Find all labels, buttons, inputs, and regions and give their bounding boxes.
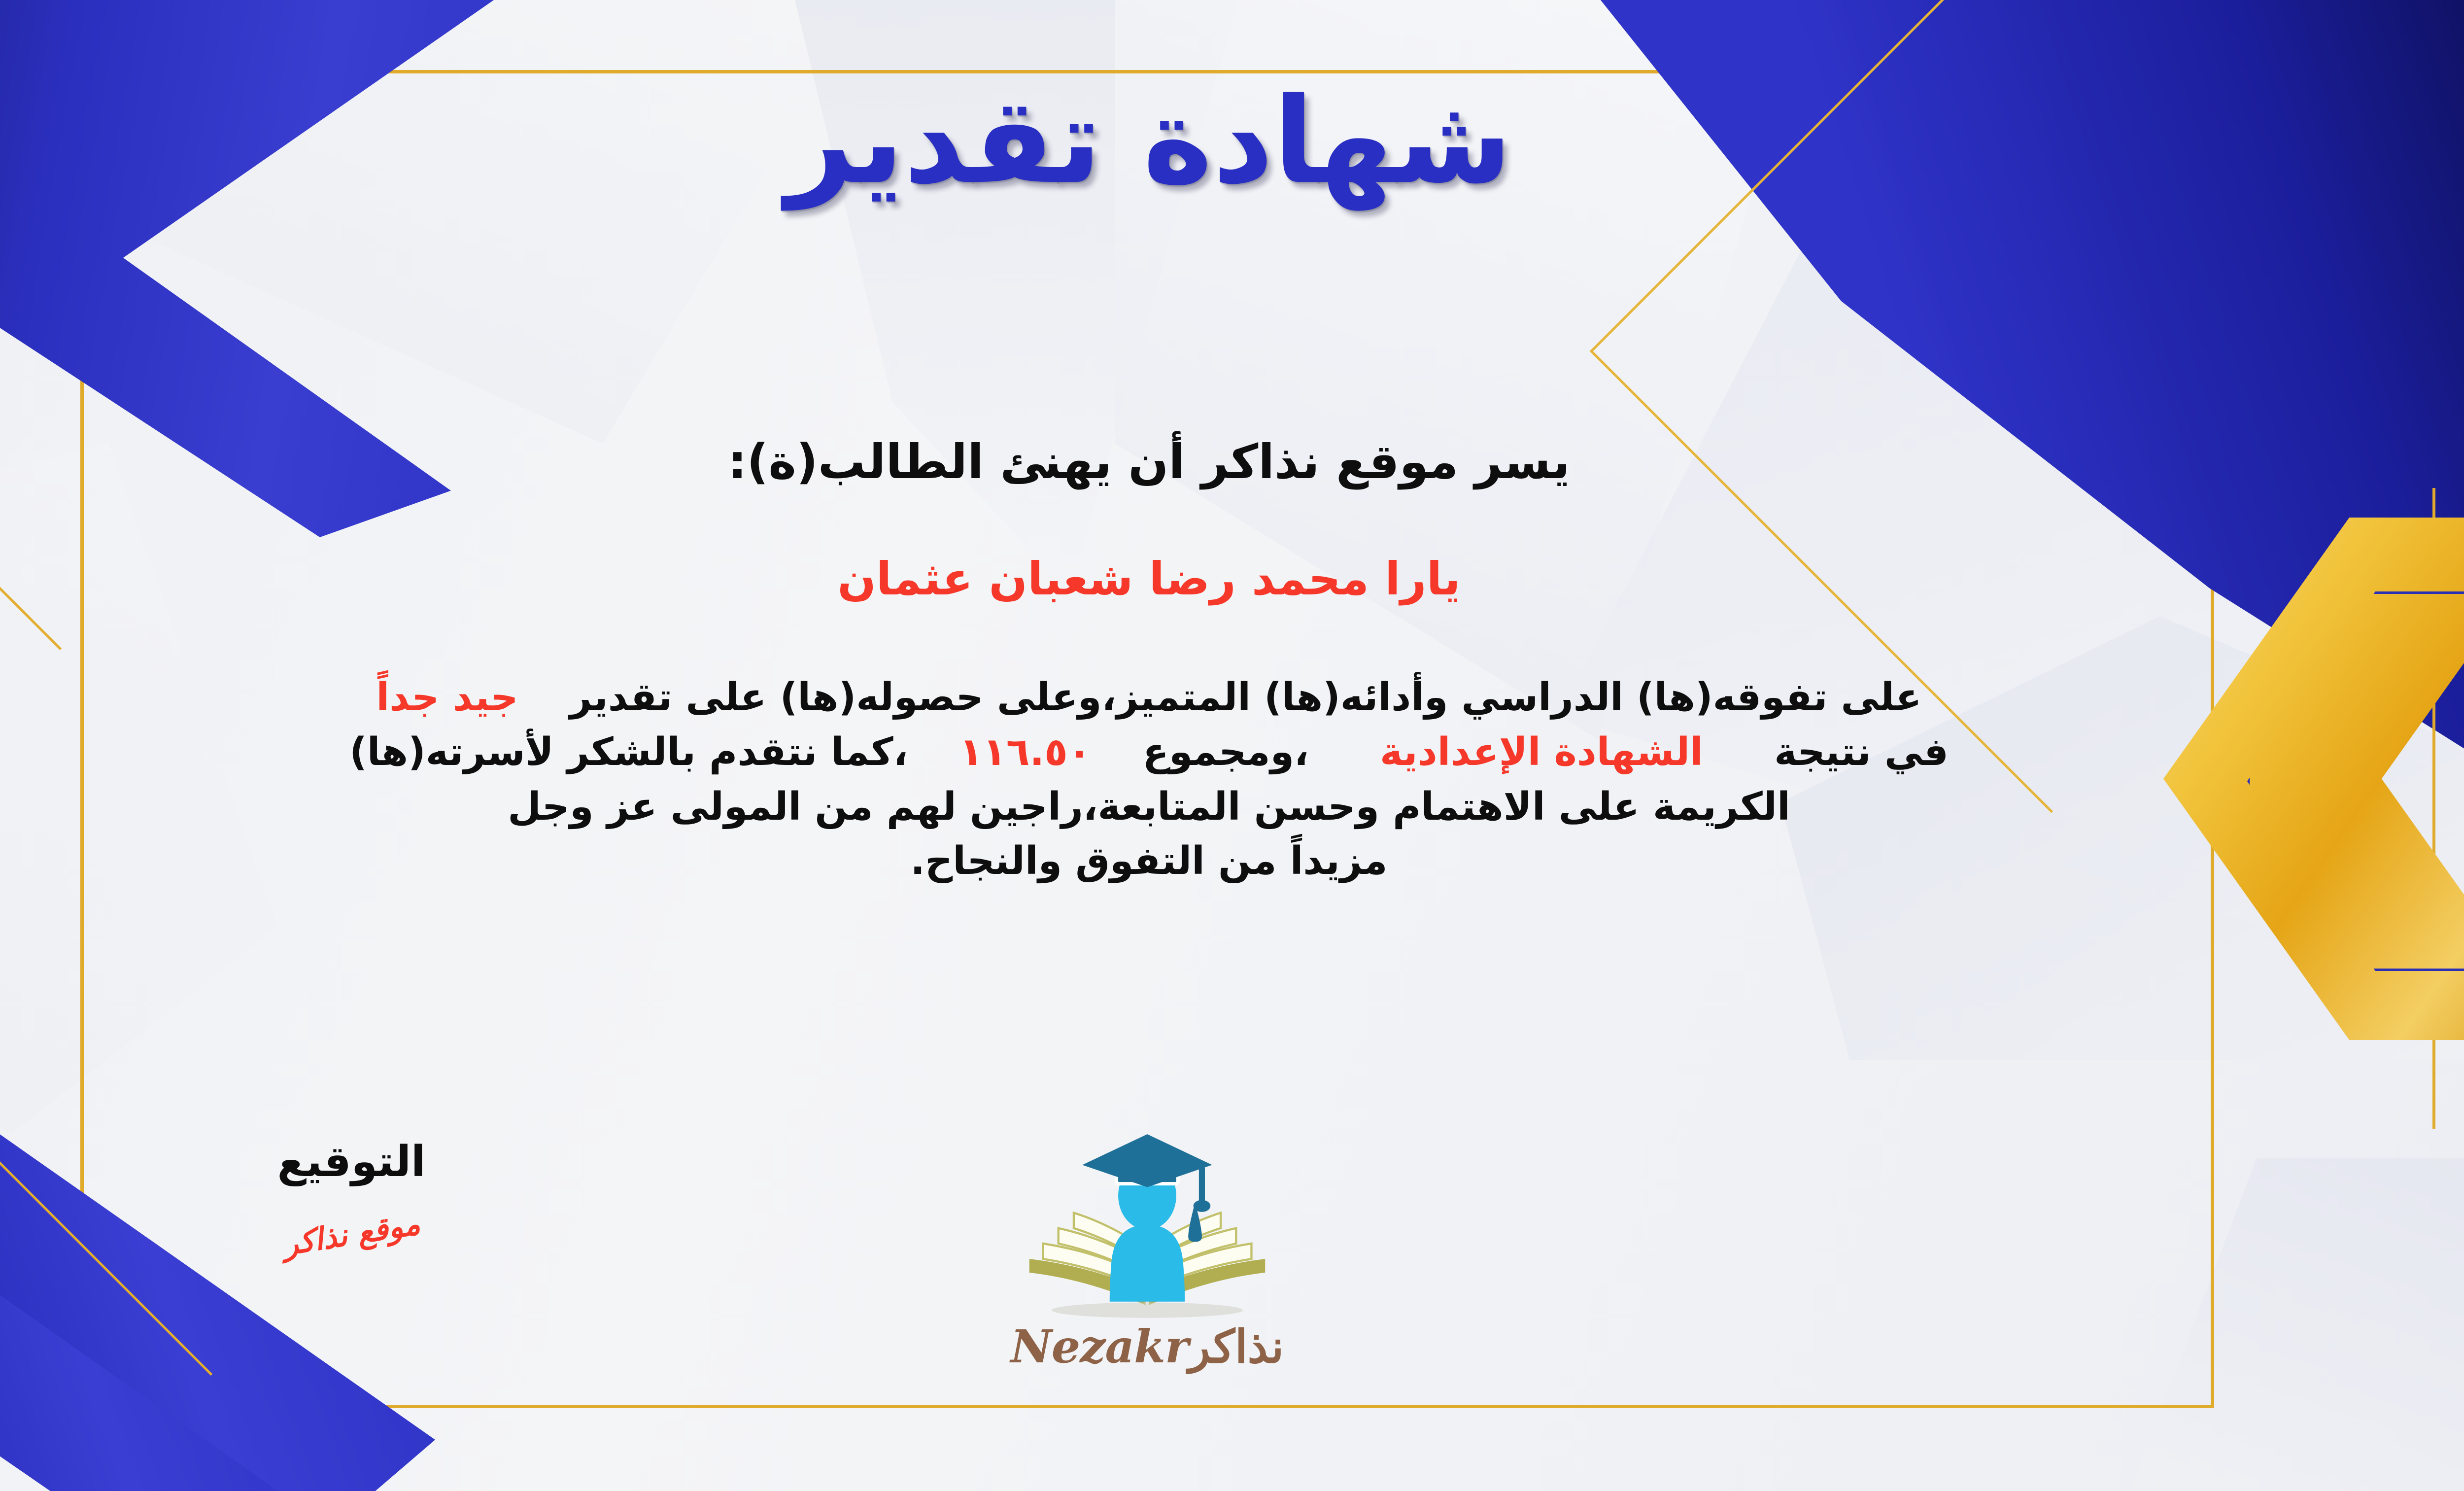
student-name: يارا محمد رضا شعبان عثمان (0, 552, 2464, 606)
total-score-value: ١١٦.٥٠ (959, 730, 1092, 774)
body-line-1-text: على تفوقه(ها) الدراسي وأدائه(ها) المتميز… (570, 675, 1922, 720)
grade-value: جيد جداً (376, 675, 518, 720)
greeting-text: يسر موقع نذاكر أن يهنئ الطالب(ة): (0, 434, 2464, 490)
certificate-page: شهادة تقدير يسر موقع نذاكر أن يهنئ الطال… (0, 0, 2464, 1491)
logo-wordmark-latin: Nezakr (1011, 1320, 1189, 1373)
body-line-1: على تفوقه(ها) الدراسي وأدائه(ها) المتميز… (0, 670, 2316, 725)
certificate-content: شهادة تقدير يسر موقع نذاكر أن يهنئ الطال… (0, 0, 2464, 1491)
site-logo: نذاكرNezakr (960, 1129, 1335, 1373)
mortarboard-top (1082, 1134, 1212, 1187)
body-line-3: الكريمة على الاهتمام وحسن المتابعة،راجين… (0, 780, 2316, 834)
book-shadow (1052, 1303, 1243, 1318)
body-line-2-prefix: في نتيجة (1774, 730, 1949, 774)
logo-wordmark-arabic: نذاكر (1188, 1320, 1284, 1373)
body-line-4: مزيداً من التفوق والنجاح. (0, 834, 2316, 889)
signature-label: التوقيع (199, 1139, 504, 1185)
certificate-body: على تفوقه(ها) الدراسي وأدائه(ها) المتميز… (0, 670, 2316, 889)
tassel-knot (1194, 1200, 1211, 1212)
graduate-book-logo-icon (1019, 1129, 1275, 1326)
signature-block: التوقيع موقع نذاكر (199, 1139, 504, 1252)
body-line-2: في نتيجة الشهادة الإعدادية ،ومجموع ١١٦.٥… (0, 725, 2316, 780)
certificate-stage: الشهادة الإعدادية (1380, 730, 1703, 774)
graduate-body (1110, 1225, 1185, 1302)
body-line-2-middle: ،ومجموع (1143, 730, 1309, 774)
body-line-2-suffix: ،كما نتقدم بالشكر لأسرته(ها) (349, 730, 908, 774)
signature-mark: موقع نذاكر (280, 1205, 422, 1262)
certificate-title: شهادة تقدير (0, 79, 2464, 203)
logo-wordmark: نذاكرNezakr (960, 1320, 1335, 1373)
